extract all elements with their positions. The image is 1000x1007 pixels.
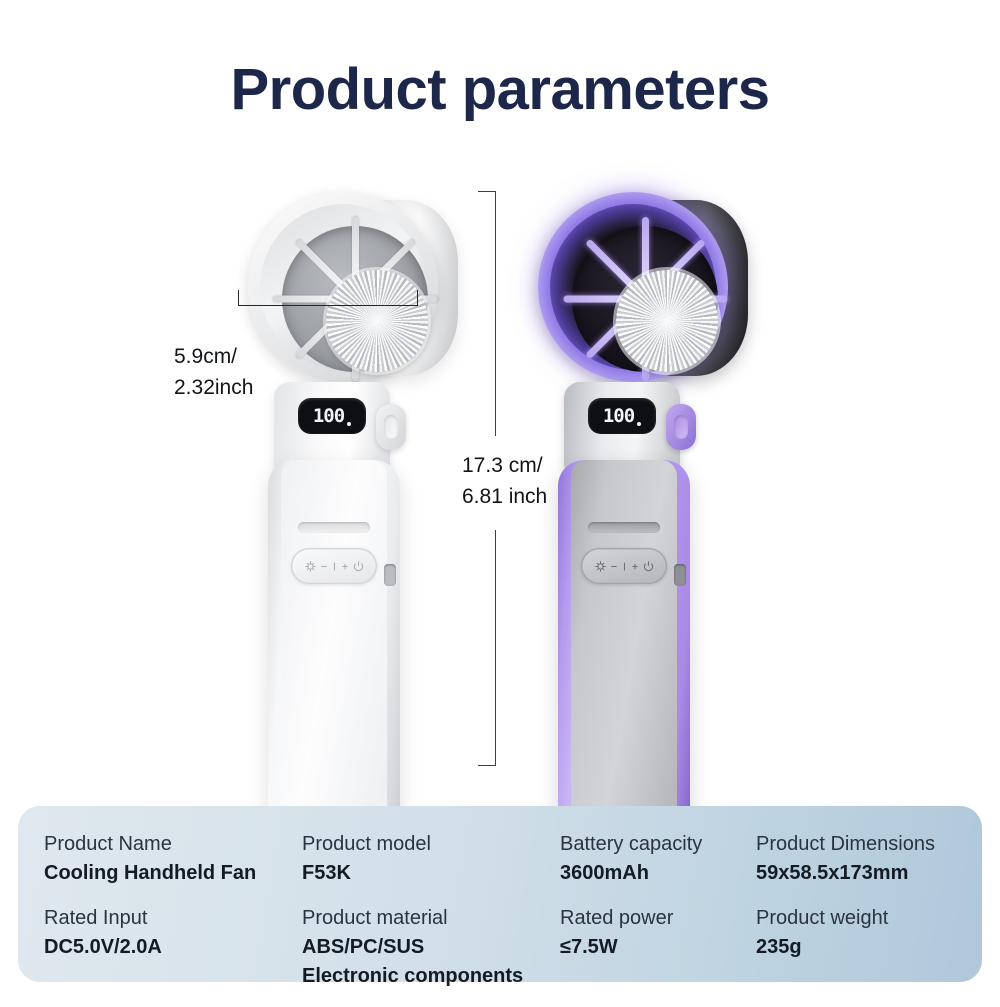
spec-key: Product material — [302, 904, 560, 933]
spec-value: ABS/PC/SUS Electronic components — [302, 933, 560, 991]
page-title: Product parameters — [0, 56, 1000, 123]
spec-item: Rated Input DC5.0V/2.0A — [44, 904, 302, 1007]
spec-value: F53K — [302, 859, 560, 888]
minus-icon — [609, 560, 619, 573]
fan-grille-ring-white — [260, 204, 426, 370]
plus-icon — [630, 560, 640, 573]
control-button-purple[interactable] — [581, 548, 667, 584]
snowflake-icon — [594, 560, 607, 573]
spec-value: Cooling Handheld Fan — [44, 859, 302, 888]
spec-item: Product Name Cooling Handheld Fan — [44, 830, 302, 904]
led-percent-dot-icon — [637, 422, 641, 426]
spec-key: Product weight — [756, 904, 996, 933]
fan-head-purple — [538, 192, 748, 392]
specification-panel: Product Name Cooling Handheld Fan Produc… — [18, 806, 982, 982]
snowflake-icon — [304, 560, 317, 573]
spec-key: Battery capacity — [560, 830, 756, 859]
spec-key: Rated Input — [44, 904, 302, 933]
height-dimension-line-bottom — [478, 530, 496, 766]
height-dimension-line-top — [478, 191, 496, 436]
spec-item: Rated power ≤7.5W — [560, 904, 756, 1007]
power-icon — [352, 560, 365, 573]
pivot-knob-purple — [666, 404, 696, 450]
speaker-vent-purple — [588, 522, 660, 533]
control-button-white[interactable] — [291, 548, 377, 584]
led-percent-dot-icon — [347, 422, 351, 426]
spec-item: Product Dimensions 59x58.5x173mm — [756, 830, 996, 904]
speaker-vent-white — [298, 522, 370, 533]
minus-icon — [319, 560, 329, 573]
spec-value: DC5.0V/2.0A — [44, 933, 302, 962]
power-icon — [642, 560, 655, 573]
specification-grid: Product Name Cooling Handheld Fan Produc… — [18, 830, 982, 1007]
width-dimension-line — [238, 290, 418, 306]
fan-grille-ring-purple — [550, 204, 716, 370]
led-display-purple: 100 — [588, 398, 656, 434]
spec-value: 59x58.5x173mm — [756, 859, 996, 888]
fan-center-hub-purple — [616, 270, 718, 372]
plus-icon — [340, 560, 350, 573]
led-battery-value: 100 — [313, 405, 344, 427]
usb-c-port-purple — [674, 564, 686, 586]
fan-handle-purple — [558, 460, 690, 860]
handle-face-white — [281, 460, 387, 860]
fan-handle-white — [268, 460, 400, 860]
spec-value: ≤7.5W — [560, 933, 756, 962]
fan-grille-outer-white — [248, 192, 438, 382]
height-dimension-label: 17.3 cm/ 6.81 inch — [462, 450, 547, 512]
fan-grille-inner-purple — [572, 226, 718, 372]
spec-item: Product material ABS/PC/SUS Electronic c… — [302, 904, 560, 1007]
divider-bar-icon — [331, 560, 338, 573]
spec-item: Battery capacity 3600mAh — [560, 830, 756, 904]
spec-key: Product model — [302, 830, 560, 859]
spec-item: Product model F53K — [302, 830, 560, 904]
fan-grille-outer-purple — [538, 192, 728, 382]
divider-bar-icon — [621, 560, 628, 573]
spec-item: Product weight 235g — [756, 904, 996, 1007]
spec-value: 235g — [756, 933, 996, 962]
pivot-knob-white — [376, 404, 406, 450]
usb-c-port-white — [384, 564, 396, 586]
led-battery-value: 100 — [603, 405, 634, 427]
led-display-white: 100 — [298, 398, 366, 434]
spec-key: Rated power — [560, 904, 756, 933]
spec-value: 3600mAh — [560, 859, 756, 888]
fan-center-hub-white — [326, 270, 428, 372]
width-dimension-label: 5.9cm/ 2.32inch — [174, 341, 253, 403]
spec-key: Product Dimensions — [756, 830, 996, 859]
spec-key: Product Name — [44, 830, 302, 859]
handle-face-purple — [571, 460, 677, 860]
